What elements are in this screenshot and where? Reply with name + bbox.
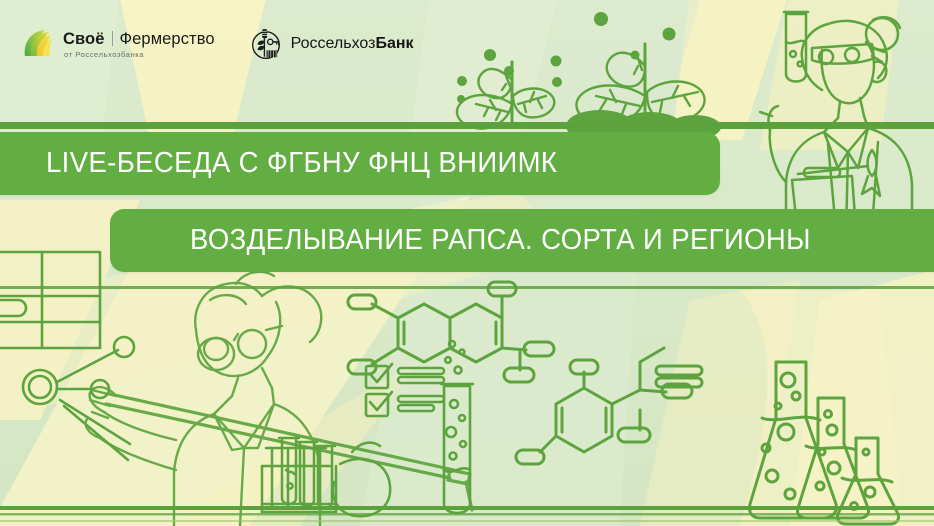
checkbox-list-icon <box>366 364 444 416</box>
svoe-subtitle: от Россельхозбанка <box>64 50 215 59</box>
data-table-grid-icon <box>0 252 100 348</box>
plant-sprouts-icon <box>457 62 721 142</box>
fermerstvo-word: Фермерство <box>120 31 215 48</box>
title-banner-primary-text: LIVE-БЕСЕДА С ФГБНУ ФНЦ ВНИИМК <box>46 147 557 180</box>
svoe-word: Своё <box>63 31 105 48</box>
title-banner-secondary-text: ВОЗДЕЛЫВАНИЕ РАПСА. СОРТА И РЕГИОНЫ <box>190 224 811 257</box>
rosselhozbank-logo[interactable]: РоссельхозБанк <box>249 27 414 61</box>
rshb-name-bold: Банк <box>375 35 413 52</box>
title-banner-primary: LIVE-БЕСЕДА С ФГБНУ ФНЦ ВНИИМК <box>0 132 720 195</box>
erlenmeyer-flasks-icon <box>749 362 898 524</box>
webinar-cover-slide: Своё Фермерство от Россельхозбанка <box>0 0 934 526</box>
test-tube-rack-icon <box>262 438 336 512</box>
svoe-fermerstvo-logo[interactable]: Своё Фермерство от Россельхозбанка <box>22 28 215 60</box>
rshb-wordmark: РоссельхозБанк <box>291 35 414 53</box>
molecule-node-diagram-icon <box>23 337 134 460</box>
seed-dots-icon <box>457 12 676 103</box>
leaf-swirl-mark-icon <box>22 28 54 60</box>
logo-bar: Своё Фермерство от Россельхозбанка <box>22 27 414 61</box>
rshb-name-plain: Россельхоз <box>291 35 376 52</box>
branched-molecule-icon <box>516 348 702 464</box>
rshb-wheat-key-circle-icon <box>249 27 283 61</box>
title-banner-secondary: ВОЗДЕЛЫВАНИЕ РАПСА. СОРТА И РЕГИОНЫ <box>110 209 934 272</box>
logo-divider <box>112 31 113 46</box>
